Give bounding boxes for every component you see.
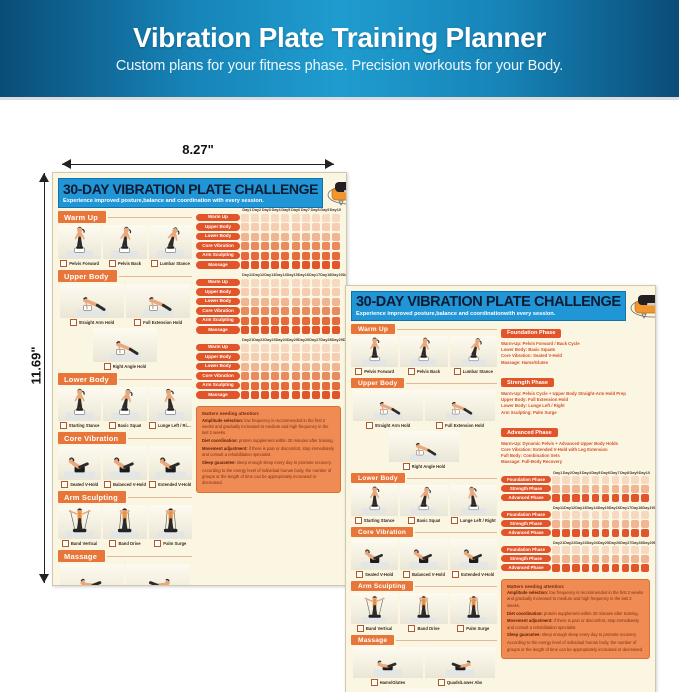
tracker-checkbox-cell[interactable] <box>292 242 300 250</box>
tracker-checkbox-cell[interactable] <box>332 326 340 334</box>
tracker-checkbox-cell[interactable] <box>631 520 639 528</box>
tracker-checkbox-cell[interactable] <box>622 485 630 493</box>
tracker-checkbox-cell[interactable] <box>292 363 300 371</box>
tracker-checkbox-cell[interactable] <box>241 307 249 315</box>
exercise-label-row[interactable]: Palm Surge <box>450 625 497 632</box>
tracker-checkbox-cell[interactable] <box>292 279 300 287</box>
tracker-checkbox-cell[interactable] <box>261 214 269 222</box>
tracker-checkbox-cell[interactable] <box>612 485 620 493</box>
tracker-checkbox-cell[interactable] <box>251 326 259 334</box>
tracker-checkbox-cell[interactable] <box>582 476 590 484</box>
tracker-checkbox-cell[interactable] <box>552 529 560 537</box>
tracker-checkbox-cell[interactable] <box>332 261 340 269</box>
tracker-checkbox-cell[interactable] <box>281 372 289 380</box>
tracker-checkbox-cell[interactable] <box>322 382 330 390</box>
tracker-checkbox-cell[interactable] <box>332 363 340 371</box>
tracker-checkbox-cell[interactable] <box>241 317 249 325</box>
tracker-checkbox-cell[interactable] <box>281 298 289 306</box>
exercise-label-row[interactable]: Right Angle Hold <box>93 363 157 370</box>
tracker-checkbox-cell[interactable] <box>271 353 279 361</box>
tracker-checkbox-cell[interactable] <box>332 288 340 296</box>
tracker-checkbox-cell[interactable] <box>602 485 610 493</box>
tracker-checkbox-cell[interactable] <box>261 298 269 306</box>
tracker-checkbox-cell[interactable] <box>241 214 249 222</box>
tracker-checkbox-cell[interactable] <box>562 485 570 493</box>
tracker-checkbox-cell[interactable] <box>302 317 310 325</box>
tracker-checkbox-cell[interactable] <box>302 307 310 315</box>
tracker-checkbox-cell[interactable] <box>302 363 310 371</box>
tracker-checkbox-cell[interactable] <box>312 214 320 222</box>
tracker-checkbox-cell[interactable] <box>332 214 340 222</box>
tracker-checkbox-cell[interactable] <box>582 529 590 537</box>
tracker-checkbox-cell[interactable] <box>261 223 269 231</box>
tracker-checkbox-cell[interactable] <box>322 223 330 231</box>
tracker-checkbox-cell[interactable] <box>261 317 269 325</box>
tracker-checkbox-cell[interactable] <box>261 261 269 269</box>
tracker-checkbox-cell[interactable] <box>271 252 279 260</box>
tracker-checkbox-cell[interactable] <box>261 279 269 287</box>
checkbox[interactable] <box>60 422 67 429</box>
checkbox[interactable] <box>109 540 116 547</box>
tracker-checkbox-cell[interactable] <box>271 233 279 241</box>
tracker-checkbox-cell[interactable] <box>261 391 269 399</box>
tracker-checkbox-cell[interactable] <box>302 288 310 296</box>
tracker-checkbox-cell[interactable] <box>251 344 259 352</box>
checkbox[interactable] <box>457 625 464 632</box>
tracker-checkbox-cell[interactable] <box>332 252 340 260</box>
tracker-checkbox-cell[interactable] <box>332 353 340 361</box>
tracker-checkbox-cell[interactable] <box>631 564 639 572</box>
tracker-checkbox-cell[interactable] <box>251 317 259 325</box>
exercise-label-row[interactable]: Palm Surge <box>149 540 192 547</box>
tracker-checkbox-cell[interactable] <box>312 344 320 352</box>
tracker-checkbox-cell[interactable] <box>251 242 259 250</box>
tracker-checkbox-cell[interactable] <box>281 382 289 390</box>
tracker-checkbox-cell[interactable] <box>261 242 269 250</box>
exercise-label-row[interactable]: Band Vertical <box>58 540 101 547</box>
tracker-checkbox-cell[interactable] <box>332 382 340 390</box>
checkbox[interactable] <box>436 422 443 429</box>
tracker-checkbox-cell[interactable] <box>281 233 289 241</box>
tracker-checkbox-cell[interactable] <box>302 372 310 380</box>
tracker-checkbox-cell[interactable] <box>271 214 279 222</box>
exercise-label-row[interactable]: Pelvis Forward <box>351 368 398 375</box>
tracker-checkbox-cell[interactable] <box>622 494 630 502</box>
tracker-checkbox-cell[interactable] <box>281 242 289 250</box>
tracker-checkbox-cell[interactable] <box>241 233 249 241</box>
tracker-checkbox-cell[interactable] <box>322 214 330 222</box>
exercise-label-row[interactable]: Band Drive <box>103 540 146 547</box>
tracker-checkbox-cell[interactable] <box>631 546 639 554</box>
tracker-checkbox-cell[interactable] <box>302 233 310 241</box>
tracker-checkbox-cell[interactable] <box>302 344 310 352</box>
tracker-checkbox-cell[interactable] <box>322 344 330 352</box>
tracker-checkbox-cell[interactable] <box>312 363 320 371</box>
tracker-checkbox-cell[interactable] <box>281 344 289 352</box>
tracker-checkbox-cell[interactable] <box>552 511 560 519</box>
tracker-checkbox-cell[interactable] <box>592 494 600 502</box>
tracker-checkbox-cell[interactable] <box>241 223 249 231</box>
tracker-checkbox-cell[interactable] <box>302 326 310 334</box>
exercise-label-row[interactable]: Starting Stance <box>58 422 101 429</box>
tracker-checkbox-cell[interactable] <box>562 511 570 519</box>
checkbox[interactable] <box>109 260 116 267</box>
tracker-checkbox-cell[interactable] <box>241 252 249 260</box>
tracker-checkbox-cell[interactable] <box>241 298 249 306</box>
tracker-checkbox-cell[interactable] <box>281 252 289 260</box>
tracker-checkbox-cell[interactable] <box>322 279 330 287</box>
tracker-checkbox-cell[interactable] <box>271 288 279 296</box>
tracker-checkbox-cell[interactable] <box>622 520 630 528</box>
tracker-checkbox-cell[interactable] <box>641 511 649 519</box>
tracker-checkbox-cell[interactable] <box>271 298 279 306</box>
exercise-label-row[interactable]: Pelvis Back <box>103 260 146 267</box>
tracker-checkbox-cell[interactable] <box>302 242 310 250</box>
exercise-label-row[interactable]: Seated V-Hold <box>58 481 101 488</box>
tracker-checkbox-cell[interactable] <box>302 252 310 260</box>
checkbox[interactable] <box>452 571 459 578</box>
tracker-checkbox-cell[interactable] <box>572 529 580 537</box>
checkbox[interactable] <box>357 625 364 632</box>
tracker-checkbox-cell[interactable] <box>332 317 340 325</box>
tracker-checkbox-cell[interactable] <box>322 307 330 315</box>
checkbox[interactable] <box>371 679 378 686</box>
tracker-checkbox-cell[interactable] <box>251 233 259 241</box>
tracker-checkbox-cell[interactable] <box>612 494 620 502</box>
tracker-checkbox-cell[interactable] <box>612 555 620 563</box>
tracker-checkbox-cell[interactable] <box>592 564 600 572</box>
tracker-checkbox-cell[interactable] <box>622 555 630 563</box>
tracker-checkbox-cell[interactable] <box>292 372 300 380</box>
tracker-checkbox-cell[interactable] <box>562 494 570 502</box>
tracker-checkbox-cell[interactable] <box>592 485 600 493</box>
tracker-checkbox-cell[interactable] <box>602 555 610 563</box>
exercise-label-row[interactable]: Extended V-Hold <box>149 481 192 488</box>
tracker-checkbox-cell[interactable] <box>592 546 600 554</box>
tracker-checkbox-cell[interactable] <box>261 326 269 334</box>
exercise-label-row[interactable]: Right Angle Hold <box>389 463 459 470</box>
tracker-checkbox-cell[interactable] <box>292 391 300 399</box>
checkbox[interactable] <box>408 368 415 375</box>
tracker-checkbox-cell[interactable] <box>552 520 560 528</box>
exercise-label-row[interactable]: Basic Squat <box>400 517 447 524</box>
tracker-checkbox-cell[interactable] <box>261 344 269 352</box>
tracker-checkbox-cell[interactable] <box>312 261 320 269</box>
tracker-checkbox-cell[interactable] <box>292 317 300 325</box>
tracker-checkbox-cell[interactable] <box>552 476 560 484</box>
tracker-checkbox-cell[interactable] <box>251 223 259 231</box>
tracker-checkbox-cell[interactable] <box>332 279 340 287</box>
tracker-checkbox-cell[interactable] <box>281 391 289 399</box>
exercise-label-row[interactable]: Quads/Lower Abs <box>425 679 495 686</box>
tracker-checkbox-cell[interactable] <box>251 214 259 222</box>
tracker-checkbox-cell[interactable] <box>241 391 249 399</box>
tracker-checkbox-cell[interactable] <box>592 476 600 484</box>
tracker-checkbox-cell[interactable] <box>271 223 279 231</box>
tracker-checkbox-cell[interactable] <box>332 298 340 306</box>
tracker-checkbox-cell[interactable] <box>322 317 330 325</box>
tracker-checkbox-cell[interactable] <box>332 307 340 315</box>
exercise-label-row[interactable]: Basic Squat <box>103 422 146 429</box>
tracker-checkbox-cell[interactable] <box>241 288 249 296</box>
tracker-checkbox-cell[interactable] <box>281 363 289 371</box>
tracker-checkbox-cell[interactable] <box>562 555 570 563</box>
tracker-checkbox-cell[interactable] <box>582 485 590 493</box>
tracker-checkbox-cell[interactable] <box>312 252 320 260</box>
tracker-checkbox-cell[interactable] <box>312 391 320 399</box>
tracker-checkbox-cell[interactable] <box>281 261 289 269</box>
tracker-checkbox-cell[interactable] <box>592 529 600 537</box>
tracker-checkbox-cell[interactable] <box>292 353 300 361</box>
tracker-checkbox-cell[interactable] <box>552 555 560 563</box>
tracker-checkbox-cell[interactable] <box>552 564 560 572</box>
exercise-label-row[interactable]: Balanced V-Hold <box>400 571 447 578</box>
tracker-checkbox-cell[interactable] <box>312 233 320 241</box>
tracker-checkbox-cell[interactable] <box>592 555 600 563</box>
tracker-checkbox-cell[interactable] <box>281 214 289 222</box>
tracker-checkbox-cell[interactable] <box>572 564 580 572</box>
tracker-checkbox-cell[interactable] <box>572 485 580 493</box>
tracker-checkbox-cell[interactable] <box>251 279 259 287</box>
tracker-checkbox-cell[interactable] <box>302 214 310 222</box>
tracker-checkbox-cell[interactable] <box>582 564 590 572</box>
tracker-checkbox-cell[interactable] <box>572 520 580 528</box>
exercise-label-row[interactable]: Band Drive <box>400 625 447 632</box>
checkbox[interactable] <box>366 422 373 429</box>
tracker-checkbox-cell[interactable] <box>292 326 300 334</box>
tracker-checkbox-cell[interactable] <box>622 564 630 572</box>
tracker-checkbox-cell[interactable] <box>281 223 289 231</box>
tracker-checkbox-cell[interactable] <box>241 242 249 250</box>
checkbox[interactable] <box>134 319 141 326</box>
tracker-checkbox-cell[interactable] <box>312 242 320 250</box>
exercise-label-row[interactable]: Band Vertical <box>351 625 398 632</box>
checkbox[interactable] <box>403 571 410 578</box>
tracker-checkbox-cell[interactable] <box>312 326 320 334</box>
tracker-checkbox-cell[interactable] <box>582 555 590 563</box>
tracker-checkbox-cell[interactable] <box>292 223 300 231</box>
tracker-checkbox-cell[interactable] <box>322 363 330 371</box>
tracker-checkbox-cell[interactable] <box>251 353 259 361</box>
checkbox[interactable] <box>451 517 458 524</box>
tracker-checkbox-cell[interactable] <box>261 288 269 296</box>
tracker-checkbox-cell[interactable] <box>281 279 289 287</box>
tracker-checkbox-cell[interactable] <box>631 555 639 563</box>
tracker-checkbox-cell[interactable] <box>622 546 630 554</box>
tracker-checkbox-cell[interactable] <box>312 288 320 296</box>
checkbox[interactable] <box>70 319 77 326</box>
checkbox[interactable] <box>154 540 161 547</box>
tracker-checkbox-cell[interactable] <box>622 511 630 519</box>
tracker-checkbox-cell[interactable] <box>251 382 259 390</box>
tracker-checkbox-cell[interactable] <box>592 520 600 528</box>
tracker-checkbox-cell[interactable] <box>641 529 649 537</box>
tracker-checkbox-cell[interactable] <box>312 307 320 315</box>
tracker-checkbox-cell[interactable] <box>332 372 340 380</box>
exercise-label-row[interactable]: Straight Arm Hold <box>353 422 423 429</box>
tracker-checkbox-cell[interactable] <box>271 326 279 334</box>
tracker-checkbox-cell[interactable] <box>322 353 330 361</box>
tracker-checkbox-cell[interactable] <box>271 307 279 315</box>
tracker-checkbox-cell[interactable] <box>641 476 649 484</box>
tracker-checkbox-cell[interactable] <box>612 520 620 528</box>
checkbox[interactable] <box>355 368 362 375</box>
tracker-checkbox-cell[interactable] <box>292 261 300 269</box>
tracker-checkbox-cell[interactable] <box>641 564 649 572</box>
tracker-checkbox-cell[interactable] <box>631 529 639 537</box>
tracker-checkbox-cell[interactable] <box>332 233 340 241</box>
checkbox[interactable] <box>454 368 461 375</box>
exercise-label-row[interactable]: Balanced V-Hold <box>103 481 146 488</box>
tracker-checkbox-cell[interactable] <box>322 261 330 269</box>
exercise-label-row[interactable]: Seated V-Hold <box>351 571 398 578</box>
tracker-checkbox-cell[interactable] <box>612 511 620 519</box>
tracker-checkbox-cell[interactable] <box>271 391 279 399</box>
tracker-checkbox-cell[interactable] <box>641 485 649 493</box>
tracker-checkbox-cell[interactable] <box>602 564 610 572</box>
tracker-checkbox-cell[interactable] <box>251 288 259 296</box>
tracker-checkbox-cell[interactable] <box>261 353 269 361</box>
tracker-checkbox-cell[interactable] <box>292 252 300 260</box>
checkbox[interactable] <box>104 363 111 370</box>
exercise-label-row[interactable]: Pelvis Back <box>400 368 447 375</box>
checkbox[interactable] <box>60 260 67 267</box>
checkbox[interactable] <box>408 625 415 632</box>
tracker-checkbox-cell[interactable] <box>292 214 300 222</box>
tracker-checkbox-cell[interactable] <box>241 363 249 371</box>
tracker-checkbox-cell[interactable] <box>271 363 279 371</box>
tracker-checkbox-cell[interactable] <box>572 555 580 563</box>
tracker-checkbox-cell[interactable] <box>322 233 330 241</box>
tracker-checkbox-cell[interactable] <box>631 476 639 484</box>
tracker-checkbox-cell[interactable] <box>622 476 630 484</box>
tracker-checkbox-cell[interactable] <box>612 564 620 572</box>
tracker-checkbox-cell[interactable] <box>292 288 300 296</box>
exercise-label-row[interactable]: Lumbar Stance <box>149 260 192 267</box>
exercise-label-row[interactable]: Pelvis Forward <box>58 260 101 267</box>
tracker-checkbox-cell[interactable] <box>251 252 259 260</box>
tracker-checkbox-cell[interactable] <box>251 391 259 399</box>
exercise-label-row[interactable]: Hams/Glutes <box>353 679 423 686</box>
tracker-checkbox-cell[interactable] <box>261 307 269 315</box>
checkbox[interactable] <box>355 517 362 524</box>
tracker-checkbox-cell[interactable] <box>562 546 570 554</box>
tracker-checkbox-cell[interactable] <box>241 372 249 380</box>
tracker-checkbox-cell[interactable] <box>641 555 649 563</box>
tracker-checkbox-cell[interactable] <box>592 511 600 519</box>
tracker-checkbox-cell[interactable] <box>552 546 560 554</box>
tracker-checkbox-cell[interactable] <box>302 391 310 399</box>
exercise-label-row[interactable]: Straight Arm Hold <box>60 319 124 326</box>
tracker-checkbox-cell[interactable] <box>552 485 560 493</box>
tracker-checkbox-cell[interactable] <box>322 391 330 399</box>
tracker-checkbox-cell[interactable] <box>281 307 289 315</box>
checkbox[interactable] <box>408 517 415 524</box>
tracker-checkbox-cell[interactable] <box>281 288 289 296</box>
tracker-checkbox-cell[interactable] <box>292 344 300 352</box>
tracker-checkbox-cell[interactable] <box>332 344 340 352</box>
exercise-label-row[interactable]: Full Extension Hold <box>126 319 190 326</box>
tracker-checkbox-cell[interactable] <box>322 242 330 250</box>
tracker-checkbox-cell[interactable] <box>562 529 570 537</box>
tracker-checkbox-cell[interactable] <box>251 363 259 371</box>
tracker-checkbox-cell[interactable] <box>271 344 279 352</box>
tracker-checkbox-cell[interactable] <box>312 372 320 380</box>
tracker-checkbox-cell[interactable] <box>251 372 259 380</box>
tracker-checkbox-cell[interactable] <box>562 564 570 572</box>
tracker-checkbox-cell[interactable] <box>241 382 249 390</box>
tracker-checkbox-cell[interactable] <box>332 223 340 231</box>
tracker-checkbox-cell[interactable] <box>302 353 310 361</box>
checkbox[interactable] <box>438 679 445 686</box>
tracker-checkbox-cell[interactable] <box>641 494 649 502</box>
tracker-checkbox-cell[interactable] <box>281 317 289 325</box>
tracker-checkbox-cell[interactable] <box>251 261 259 269</box>
tracker-checkbox-cell[interactable] <box>602 529 610 537</box>
tracker-checkbox-cell[interactable] <box>572 476 580 484</box>
tracker-checkbox-cell[interactable] <box>271 317 279 325</box>
tracker-checkbox-cell[interactable] <box>312 353 320 361</box>
tracker-checkbox-cell[interactable] <box>302 279 310 287</box>
tracker-checkbox-cell[interactable] <box>322 298 330 306</box>
tracker-checkbox-cell[interactable] <box>241 261 249 269</box>
tracker-checkbox-cell[interactable] <box>261 233 269 241</box>
tracker-checkbox-cell[interactable] <box>241 279 249 287</box>
tracker-checkbox-cell[interactable] <box>582 520 590 528</box>
tracker-checkbox-cell[interactable] <box>302 382 310 390</box>
tracker-checkbox-cell[interactable] <box>322 326 330 334</box>
tracker-checkbox-cell[interactable] <box>271 372 279 380</box>
tracker-checkbox-cell[interactable] <box>332 242 340 250</box>
checkbox[interactable] <box>151 260 158 267</box>
checkbox[interactable] <box>62 540 69 547</box>
tracker-checkbox-cell[interactable] <box>602 520 610 528</box>
tracker-checkbox-cell[interactable] <box>631 511 639 519</box>
tracker-checkbox-cell[interactable] <box>292 307 300 315</box>
tracker-checkbox-cell[interactable] <box>612 476 620 484</box>
tracker-checkbox-cell[interactable] <box>292 233 300 241</box>
tracker-checkbox-cell[interactable] <box>602 546 610 554</box>
tracker-checkbox-cell[interactable] <box>612 529 620 537</box>
tracker-checkbox-cell[interactable] <box>302 261 310 269</box>
tracker-checkbox-cell[interactable] <box>312 223 320 231</box>
tracker-checkbox-cell[interactable] <box>562 476 570 484</box>
tracker-checkbox-cell[interactable] <box>322 288 330 296</box>
tracker-checkbox-cell[interactable] <box>261 382 269 390</box>
checkbox[interactable] <box>356 571 363 578</box>
tracker-checkbox-cell[interactable] <box>562 520 570 528</box>
checkbox[interactable] <box>149 481 156 488</box>
tracker-checkbox-cell[interactable] <box>312 298 320 306</box>
tracker-checkbox-cell[interactable] <box>572 494 580 502</box>
tracker-checkbox-cell[interactable] <box>322 252 330 260</box>
exercise-label-row[interactable]: Lumbar Stance <box>450 368 497 375</box>
tracker-checkbox-cell[interactable] <box>292 298 300 306</box>
tracker-checkbox-cell[interactable] <box>281 353 289 361</box>
tracker-checkbox-cell[interactable] <box>572 546 580 554</box>
checkbox[interactable] <box>61 481 68 488</box>
tracker-checkbox-cell[interactable] <box>281 326 289 334</box>
tracker-checkbox-cell[interactable] <box>572 511 580 519</box>
tracker-checkbox-cell[interactable] <box>631 485 639 493</box>
tracker-checkbox-cell[interactable] <box>332 391 340 399</box>
tracker-checkbox-cell[interactable] <box>641 546 649 554</box>
tracker-checkbox-cell[interactable] <box>312 382 320 390</box>
tracker-checkbox-cell[interactable] <box>302 223 310 231</box>
tracker-checkbox-cell[interactable] <box>271 279 279 287</box>
tracker-checkbox-cell[interactable] <box>261 363 269 371</box>
tracker-checkbox-cell[interactable] <box>602 494 610 502</box>
